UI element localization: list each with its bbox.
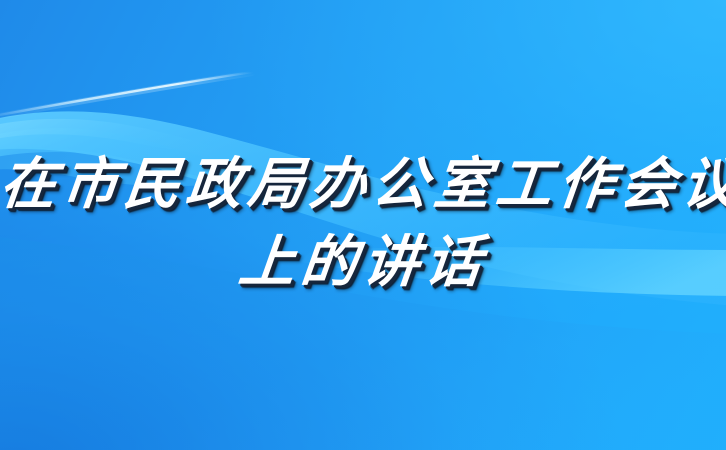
title-block: 在市民政局办公室工作会议 上的讲话 bbox=[0, 157, 726, 291]
title-line-1: 在市民政局办公室工作会议 bbox=[0, 157, 726, 213]
title-card: 在市民政局办公室工作会议 上的讲话 bbox=[0, 0, 726, 450]
light-streak-glow bbox=[0, 73, 252, 117]
title-line-2: 上的讲话 bbox=[0, 235, 726, 291]
